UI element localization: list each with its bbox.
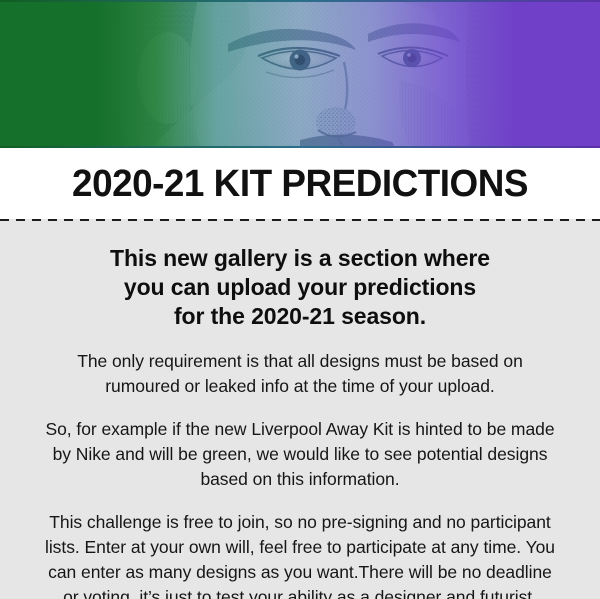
hero-banner: [0, 0, 600, 148]
hero-bottom-edge: [0, 146, 600, 148]
paragraph-example: So, for example if the new Liverpool Awa…: [39, 417, 561, 492]
poster: 2020-21 KIT PREDICTIONS This new gallery…: [0, 0, 600, 599]
hero-top-edge: [0, 0, 600, 2]
body-content: This new gallery is a section where you …: [0, 222, 600, 599]
lead-heading: This new gallery is a section where you …: [0, 244, 600, 331]
hero-gradient-overlay: [0, 0, 600, 148]
paragraph-rules: This challenge is free to join, so no pr…: [39, 510, 561, 599]
lead-line-3: for the 2020-21 season.: [0, 302, 600, 331]
lead-line-2: you can upload your predictions: [0, 273, 600, 302]
lead-line-1: This new gallery is a section where: [0, 244, 600, 273]
paragraph-requirement: The only requirement is that all designs…: [50, 349, 550, 399]
title-band: 2020-21 KIT PREDICTIONS: [0, 148, 600, 219]
page-title: 2020-21 KIT PREDICTIONS: [72, 161, 528, 206]
